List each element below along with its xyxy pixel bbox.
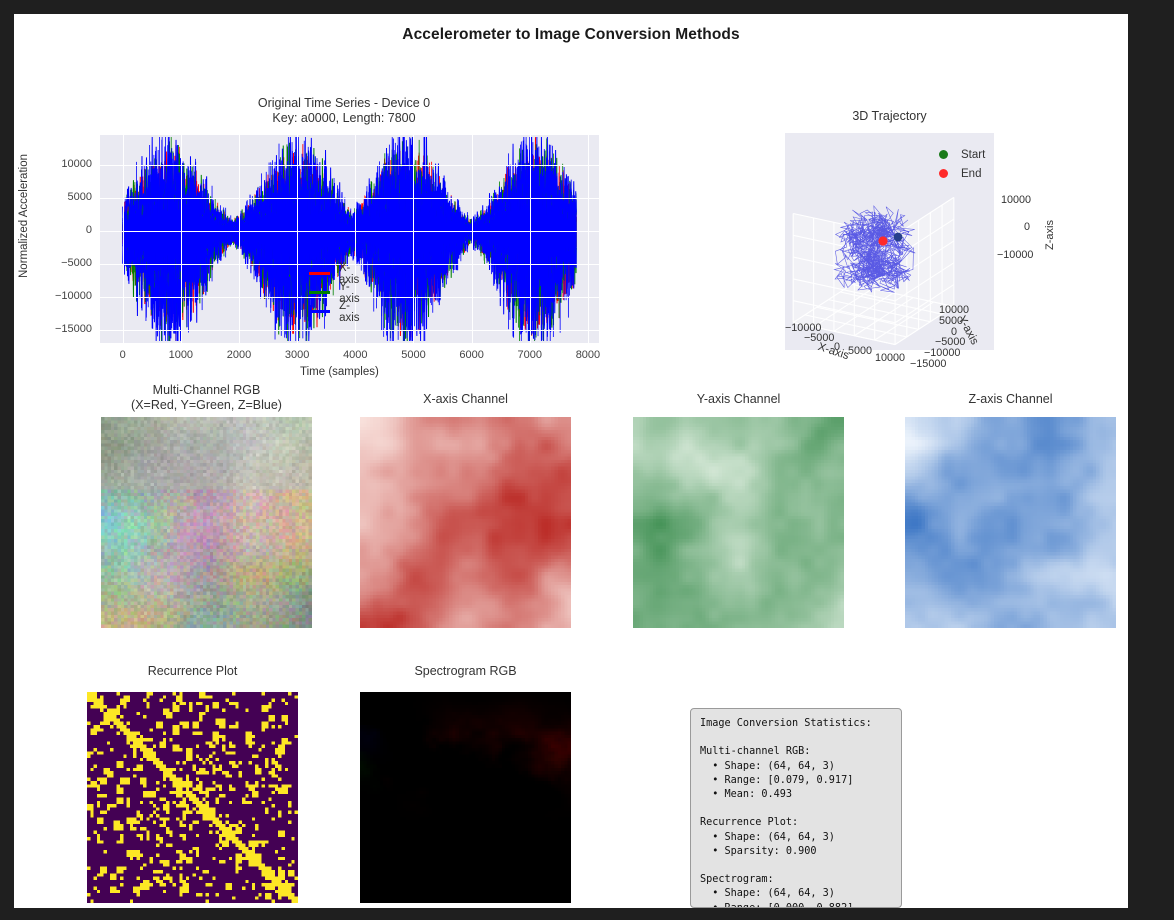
legend-entry: End [939, 164, 985, 183]
ytick-label: 0 [14, 224, 92, 236]
z-channel-image [905, 417, 1116, 628]
legend-swatch [309, 310, 330, 313]
image-panel-xchan [360, 417, 571, 628]
gridline-v [413, 135, 414, 343]
figure-canvas: Accelerometer to Image Conversion Method… [14, 14, 1128, 908]
image-title-rgb: Multi-Channel RGB (X=Red, Y=Green, Z=Blu… [101, 383, 312, 413]
image-panel-recur [87, 692, 298, 903]
legend-swatch [309, 291, 330, 294]
gridline-v [472, 135, 473, 343]
trajectory-end-marker [878, 236, 887, 245]
xtick-label: 5000 [848, 345, 872, 357]
legend-label: End [961, 168, 981, 180]
legend-entry: Z-axis [309, 302, 364, 321]
gridline-v [181, 135, 182, 343]
xtick-label: 4000 [330, 349, 380, 361]
xtick-label: 10000 [875, 352, 905, 364]
legend-entry: Start [939, 145, 985, 164]
image-title-xchan: X-axis Channel [360, 392, 571, 407]
legend-swatch [309, 272, 330, 275]
xtick-label: 8000 [563, 349, 613, 361]
ytick-label: −10000 [14, 290, 92, 302]
legend-dot [939, 169, 948, 178]
stats-textbox: Image Conversion Statistics: Multi-chann… [690, 708, 902, 908]
gridline-v [239, 135, 240, 343]
legend-dot [939, 150, 948, 159]
timeseries-title: Original Time Series - Device 0 Key: a00… [14, 96, 674, 126]
gridline-h [100, 330, 599, 331]
xtick-label: 1000 [156, 349, 206, 361]
image-title-ychan: Y-axis Channel [633, 392, 844, 407]
trajectory3d-legend: StartEnd [939, 145, 985, 183]
rgb-image [101, 417, 312, 628]
xtick-label: 0 [98, 349, 148, 361]
legend-label: Z-axis [339, 300, 364, 324]
gridline-v [530, 135, 531, 343]
gridline-v [123, 135, 124, 343]
gridline-v [588, 135, 589, 343]
image-panel-rgb [101, 417, 312, 628]
ztick-label: −10000 [997, 249, 1033, 261]
gridline-h [100, 165, 599, 166]
ztick-label: 0 [1024, 221, 1030, 233]
figure-title: Accelerometer to Image Conversion Method… [14, 26, 1128, 44]
ytick-label: 10000 [14, 158, 92, 170]
gridline-h [100, 231, 599, 232]
timeseries-legend: X-axisY-axisZ-axis [309, 264, 364, 321]
ytick-label: −15000 [910, 358, 946, 370]
gridline-v [297, 135, 298, 343]
screenshot-root: Accelerometer to Image Conversion Method… [0, 0, 1174, 920]
ytick-label: −15000 [14, 323, 92, 335]
xtick-label: 7000 [505, 349, 555, 361]
recurrence-plot-image [87, 692, 298, 903]
xtick-label: 3000 [272, 349, 322, 361]
image-panel-spectro [360, 692, 571, 903]
xtick-label: 2000 [214, 349, 264, 361]
image-title-zchan: Z-axis Channel [905, 392, 1116, 407]
x-channel-image [360, 417, 571, 628]
ytick-label: 5000 [14, 191, 92, 203]
image-title-recur: Recurrence Plot [87, 664, 298, 679]
xtick-label: 5000 [388, 349, 438, 361]
ztick-label: 10000 [1001, 194, 1031, 206]
trajectory-start-marker [894, 233, 903, 242]
spectrogram-image [360, 692, 571, 903]
trajectory3d-zlabel-text: Z-axis [1044, 220, 1056, 250]
timeseries-xlabel: Time (samples) [300, 366, 379, 378]
image-panel-zchan [905, 417, 1116, 628]
xtick-label: 6000 [447, 349, 497, 361]
gridline-h [100, 198, 599, 199]
legend-label: Start [961, 149, 985, 161]
image-title-spectro: Spectrogram RGB [360, 664, 571, 679]
y-channel-image [633, 417, 844, 628]
trajectory3d-title: 3D Trajectory [785, 109, 994, 124]
image-panel-ychan [633, 417, 844, 628]
ytick-label: −5000 [14, 257, 92, 269]
